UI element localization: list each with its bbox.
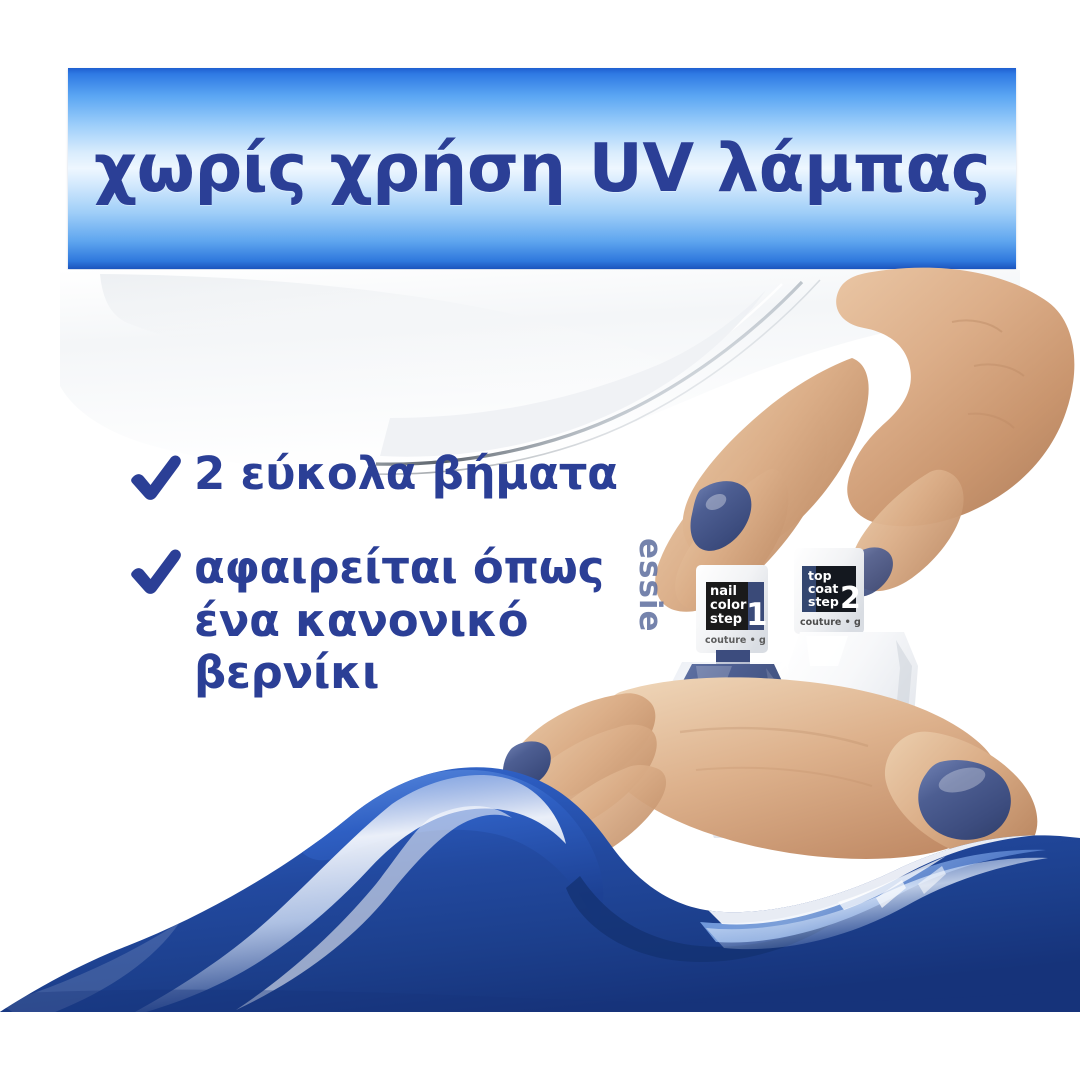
upper-hand xyxy=(655,268,1074,612)
check-icon xyxy=(128,546,184,596)
header-banner: χωρίς χρήση UV λάμπας xyxy=(68,68,1016,269)
data-mirror: essie essie nail color step 1 couture • … xyxy=(0,0,1,1)
ad-canvas: χωρίς χρήση UV λάμπας xyxy=(0,0,1080,1080)
blue-liquid-wave xyxy=(0,760,1080,1080)
cap-line-3: step xyxy=(808,594,839,609)
cap-line-3: step xyxy=(710,612,742,627)
cap-step-number: 1 xyxy=(746,597,768,633)
cap-line-1: nail xyxy=(710,584,737,599)
brand-name: essie xyxy=(0,0,1,1)
headline-text: χωρίς χρήση UV λάμπας xyxy=(94,135,990,202)
essie-logo-emboss: essie xyxy=(632,538,668,633)
check-icon xyxy=(128,452,184,502)
cap-subtext: couture • g xyxy=(800,617,861,628)
cap-line-2: color xyxy=(710,598,747,613)
cap-step-number: 2 xyxy=(840,581,861,616)
cap-subtext: couture • g xyxy=(705,635,766,646)
